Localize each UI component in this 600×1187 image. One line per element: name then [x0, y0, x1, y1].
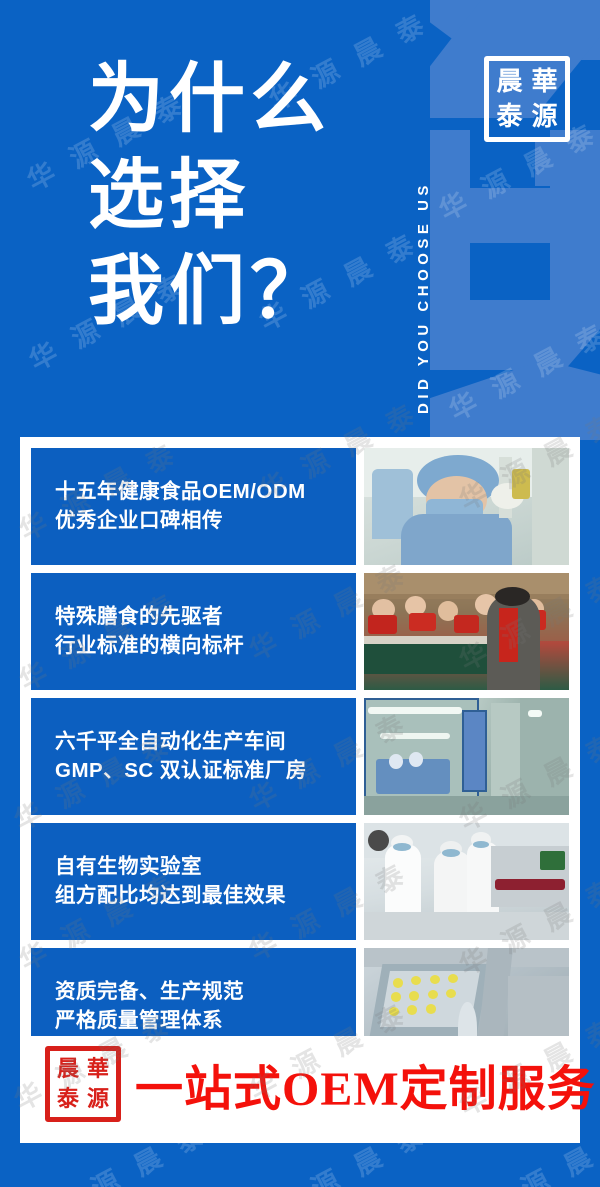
- title-line-1: 为什么: [88, 52, 388, 148]
- feature-panel: 十五年健康食品OEM/ODM 优秀企业口碑相传: [20, 437, 580, 1143]
- feature-card[interactable]: 十五年健康食品OEM/ODM 优秀企业口碑相传: [31, 448, 569, 565]
- feature-line: 特殊膳食的先驱者: [55, 606, 356, 628]
- title-line-3: 我们？: [88, 244, 388, 340]
- cta-banner[interactable]: 晨 華 泰 源 一站式OEM定制服务: [31, 1036, 569, 1132]
- feature-line: 六千平全自动化生产车间: [55, 731, 356, 753]
- seal-char-3: 泰: [492, 99, 527, 134]
- poster-root: 为什么 选择 我们？ DID YOU CHOOSE US 晨 華 泰 源 十五年…: [0, 0, 600, 1187]
- feature-line: 资质完备、生产规范: [55, 981, 356, 1003]
- feature-card-list: 十五年健康食品OEM/ODM 优秀企业口碑相传: [31, 448, 569, 1065]
- feature-photo-lab-technician: [364, 448, 569, 565]
- feature-card[interactable]: 六千平全自动化生产车间 GMP、SC 双认证标准厂房: [31, 698, 569, 815]
- feature-card-text: 自有生物实验室 组方配比均达到最佳效果: [31, 823, 356, 940]
- feature-line: 优秀企业口碑相传: [55, 510, 356, 532]
- cta-banner-text: 一站式OEM定制服务: [135, 1049, 596, 1119]
- feature-line: GMP、SC 双认证标准厂房: [55, 760, 356, 782]
- seal-red-char-2: 華: [83, 1054, 113, 1084]
- feature-line: 十五年健康食品OEM/ODM: [55, 481, 356, 503]
- feature-line: 组方配比均达到最佳效果: [55, 885, 356, 907]
- feature-line: 行业标准的横向标杆: [55, 635, 356, 657]
- page-title: 为什么 选择 我们？: [88, 52, 388, 340]
- feature-card[interactable]: 特殊膳食的先驱者 行业标准的横向标杆: [31, 573, 569, 690]
- feature-card-text: 十五年健康食品OEM/ODM 优秀企业口碑相传: [31, 448, 356, 565]
- feature-line: 自有生物实验室: [55, 856, 356, 878]
- feature-card-text: 六千平全自动化生产车间 GMP、SC 双认证标准厂房: [31, 698, 356, 815]
- title-line-2: 选择: [88, 148, 388, 244]
- feature-line: 严格质量管理体系: [55, 1010, 356, 1032]
- feature-photo-cleanroom-corridor: [364, 698, 569, 815]
- brand-seal-red-icon: 晨 華 泰 源: [45, 1046, 121, 1122]
- feature-photo-conference-audience: [364, 573, 569, 690]
- seal-red-char-1: 晨: [53, 1054, 83, 1084]
- seal-char-2: 華: [527, 64, 562, 99]
- vertical-caption: DID YOU CHOOSE US: [404, 24, 432, 414]
- feature-card[interactable]: 自有生物实验室 组方配比均达到最佳效果: [31, 823, 569, 940]
- feature-card-text: 特殊膳食的先驱者 行业标准的横向标杆: [31, 573, 356, 690]
- feature-photo-laboratory-line: [364, 823, 569, 940]
- seal-red-char-3: 泰: [53, 1084, 83, 1114]
- seal-red-char-4: 源: [83, 1084, 113, 1114]
- seal-char-1: 晨: [492, 64, 527, 99]
- seal-char-4: 源: [527, 99, 562, 134]
- brand-seal-icon: 晨 華 泰 源: [484, 56, 570, 142]
